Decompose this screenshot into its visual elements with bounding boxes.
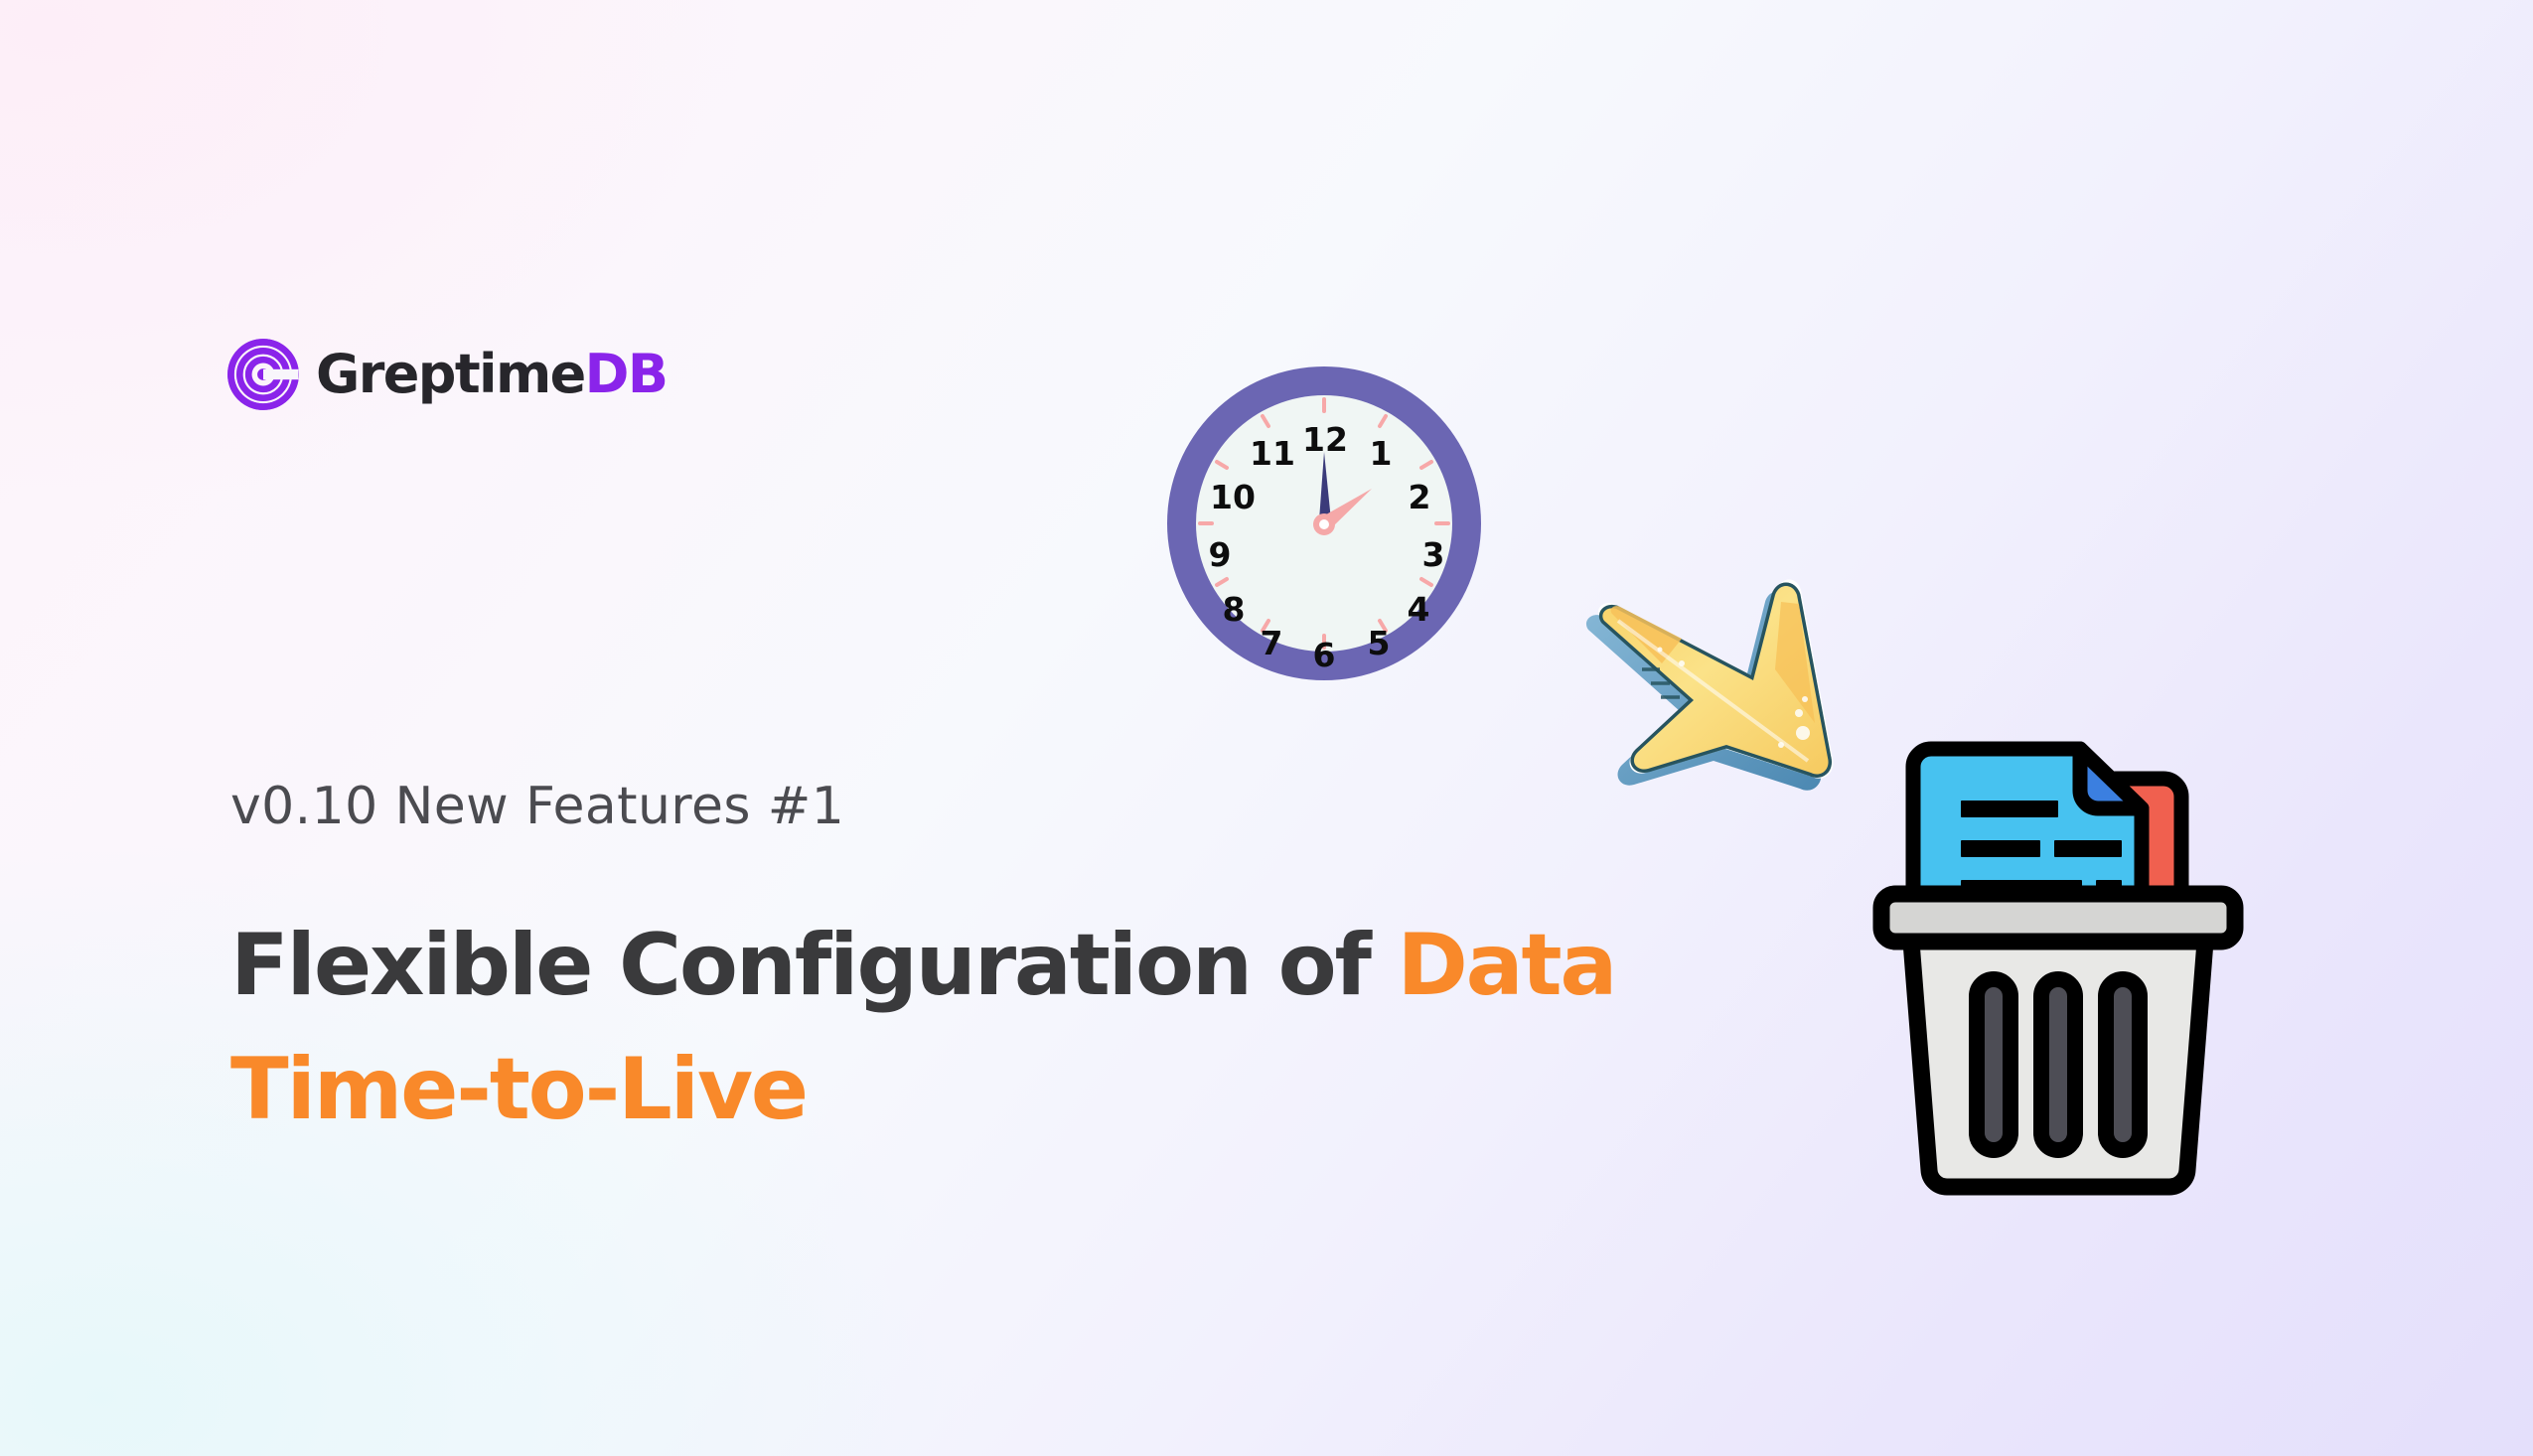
promo-banner: GreptimeDB v0.10 New Features #1 Flexibl… <box>0 0 2533 1456</box>
clock-numeral-4: 4 <box>1408 590 1430 629</box>
logo-name-primary: Greptime <box>316 343 585 405</box>
bin-slots <box>1977 979 2140 1150</box>
logo-wordmark: GreptimeDB <box>316 348 667 401</box>
page-title: Flexible Configuration of Data Time-to-L… <box>230 904 1780 1151</box>
headline-accent-data: Data <box>1397 916 1615 1015</box>
headline-plain-text: Flexible Configuration of <box>230 916 1397 1015</box>
eyebrow-text: v0.10 New Features #1 <box>230 777 844 836</box>
greptimedb-logo: GreptimeDB <box>226 338 667 411</box>
document-front <box>1913 749 2142 908</box>
clock-numeral-10: 10 <box>1210 478 1256 516</box>
clock-numeral-3: 3 <box>1422 535 1445 574</box>
clock-numeral-2: 2 <box>1409 478 1431 516</box>
clock-numeral-1: 1 <box>1370 434 1393 473</box>
arrow-illustration <box>1555 574 1853 822</box>
bin-slot-1 <box>1977 979 2011 1150</box>
wall-clock-illustration: 12 1 2 3 4 5 6 7 8 9 10 11 <box>1160 360 1488 687</box>
clock-center-dot <box>1319 519 1329 529</box>
clock-numeral-8: 8 <box>1223 590 1246 629</box>
logo-name-accent: DB <box>585 343 668 405</box>
bin-slot-2 <box>2041 979 2075 1150</box>
wall-clock-icon: 12 1 2 3 4 5 6 7 8 9 10 11 <box>1160 360 1488 687</box>
clock-numeral-11: 11 <box>1250 434 1295 473</box>
headline-line-1: Flexible Configuration of Data <box>230 904 1780 1028</box>
headline-line-2: Time-to-Live <box>230 1028 1780 1152</box>
greptime-spiral-logo-icon <box>226 338 300 411</box>
hand-drawn-arrow-down-right-icon <box>1555 574 1853 822</box>
clock-numeral-6: 6 <box>1313 636 1336 674</box>
clock-numeral-7: 7 <box>1261 624 1283 662</box>
trash-bin-illustration <box>1860 717 2257 1214</box>
clock-numeral-12: 12 <box>1302 420 1348 459</box>
trash-bin-with-documents-icon <box>1860 717 2257 1214</box>
bin-slot-3 <box>2106 979 2140 1150</box>
clock-numeral-9: 9 <box>1209 535 1232 574</box>
clock-numeral-5: 5 <box>1368 624 1391 662</box>
